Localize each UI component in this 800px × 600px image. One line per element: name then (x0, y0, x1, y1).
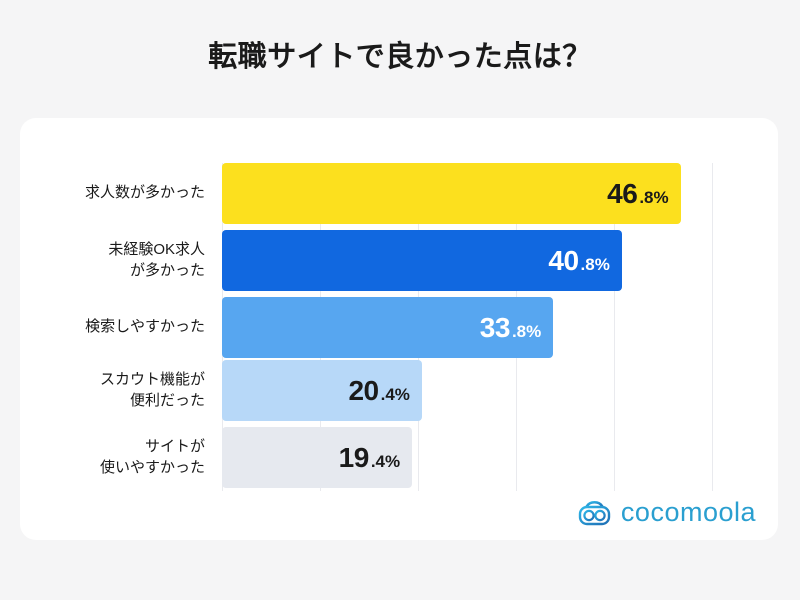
category-label-line: 求人数が多かった (85, 183, 205, 203)
bar-value-fraction: .8% (581, 256, 610, 273)
gridline-50 (712, 163, 713, 491)
category-label-line: が多かった (130, 261, 205, 281)
binoculars-icon (578, 500, 612, 526)
page-title: 転職サイトで良かった点は？ (0, 40, 800, 75)
bar-1[interactable]: 46.8% (222, 163, 681, 224)
category-label-5: サイトが使いやすかった (20, 427, 205, 488)
category-label-4: スカウト機能が便利だった (20, 360, 205, 421)
bar-row: 46.8% (222, 163, 712, 224)
bar-row: 40.8% (222, 230, 712, 291)
brand-name: cocomoola (621, 499, 756, 526)
category-axis-labels: 求人数が多かった未経験OK求人が多かった検索しやすかったスカウト機能が便利だった… (20, 163, 205, 491)
bar-4[interactable]: 20.4% (222, 360, 422, 421)
bar-value-fraction: .8% (639, 189, 668, 206)
category-label-line: スカウト機能が (100, 370, 205, 390)
bar-3[interactable]: 33.8% (222, 297, 553, 358)
bar-value-fraction: .4% (371, 453, 400, 470)
category-label-3: 検索しやすかった (20, 297, 205, 358)
bar-value-integer: 19 (339, 444, 369, 472)
bar-value-label: 20.4% (348, 377, 409, 405)
bar-value-label: 19.4% (339, 444, 400, 472)
bar-value-integer: 20 (348, 377, 378, 405)
bar-value-integer: 46 (607, 180, 637, 208)
bar-value-integer: 40 (548, 247, 578, 275)
category-label-1: 求人数が多かった (20, 163, 205, 224)
plot-area: 46.8%40.8%33.8%20.4%19.4% (222, 163, 712, 491)
bar-row: 33.8% (222, 297, 712, 358)
bar-5[interactable]: 19.4% (222, 427, 412, 488)
brand-logo: cocomoola (578, 499, 756, 526)
bar-value-label: 40.8% (548, 247, 609, 275)
bar-2[interactable]: 40.8% (222, 230, 622, 291)
category-label-line: 使いやすかった (100, 458, 205, 478)
category-label-line: 検索しやすかった (85, 317, 205, 337)
category-label-2: 未経験OK求人が多かった (20, 230, 205, 291)
bar-row: 19.4% (222, 427, 712, 488)
category-label-line: 未経験OK求人 (108, 240, 205, 260)
bar-row: 20.4% (222, 360, 712, 421)
category-label-line: 便利だった (130, 391, 205, 411)
bar-value-label: 46.8% (607, 180, 668, 208)
bar-value-label: 33.8% (480, 314, 541, 342)
bar-value-fraction: .8% (512, 323, 541, 340)
bar-series: 46.8%40.8%33.8%20.4%19.4% (222, 163, 712, 491)
bar-value-fraction: .4% (381, 386, 410, 403)
bar-value-integer: 33 (480, 314, 510, 342)
category-label-line: サイトが (145, 437, 205, 457)
